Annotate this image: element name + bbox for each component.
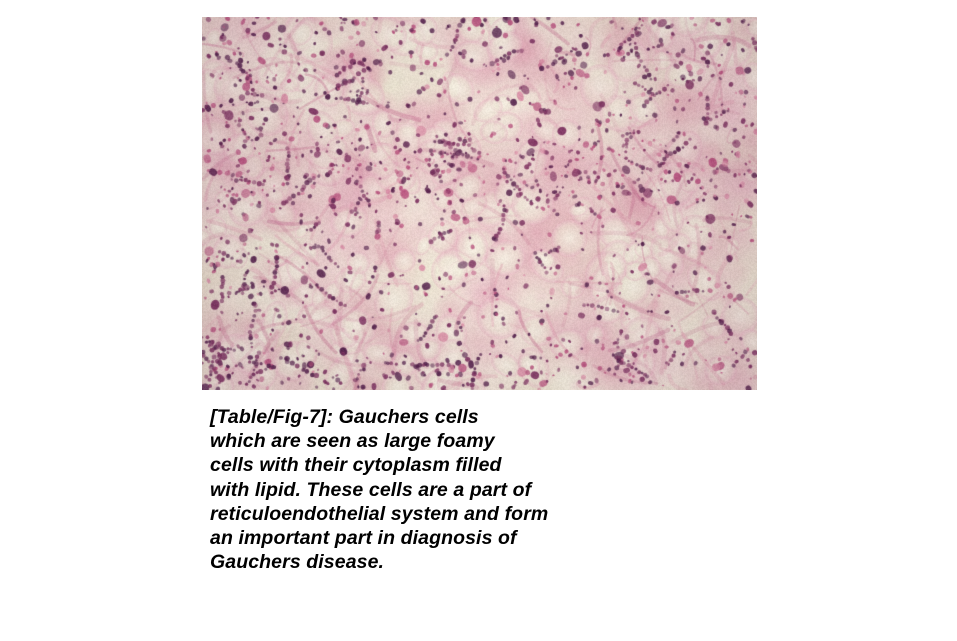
figure-block: [Table/Fig-7]: Gauchers cells which are … [202,17,757,390]
histopathology-micrograph [202,17,757,390]
figure-caption: [Table/Fig-7]: Gauchers cells which are … [210,405,630,574]
micrograph-canvas [202,17,757,390]
